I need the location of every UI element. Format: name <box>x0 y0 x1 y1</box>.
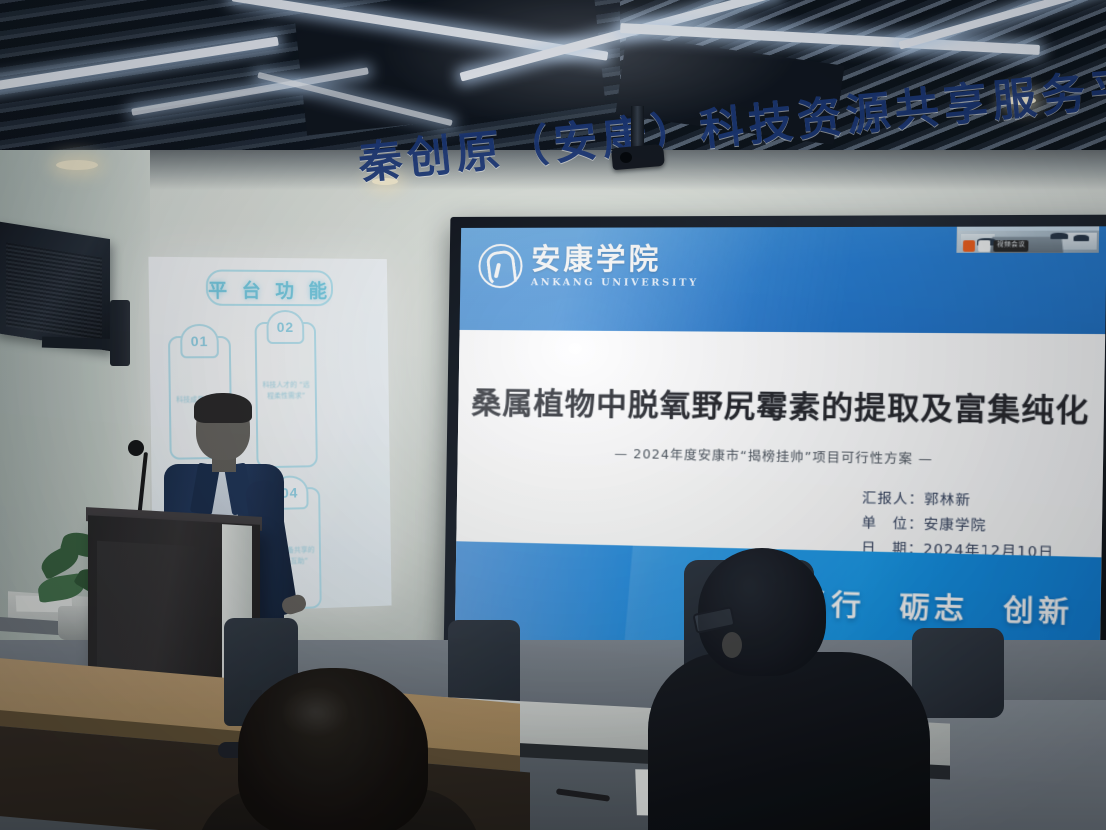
slide-header-bar: 安康学院 ANKANG UNIVERSITY <box>460 226 1106 334</box>
camera-lens-icon <box>620 152 632 163</box>
speaker-mount <box>110 300 130 366</box>
slide-subtitle: — 2024年度安康市“揭榜挂帅”项目可行性方案 — <box>458 440 1104 470</box>
pip-person <box>1074 234 1090 240</box>
pip-person <box>1051 232 1068 239</box>
hair-highlight <box>280 686 350 738</box>
seated-person-right <box>660 548 930 830</box>
meta-label: 单 位： <box>861 511 923 537</box>
pip-badge-label: 视频会议 <box>994 241 1029 253</box>
feature-card-number: 02 <box>266 310 304 344</box>
projection-title: 平 台 功 能 <box>208 276 331 304</box>
pip-person <box>977 238 995 245</box>
pip-badge-group: 视频会议 <box>963 241 1029 253</box>
meta-value: 安康学院 <box>924 516 987 534</box>
seated-person-foreground <box>210 668 460 830</box>
person-body <box>648 652 930 830</box>
university-brand: 安康学院 ANKANG UNIVERSITY <box>479 244 700 289</box>
slide-body: 桑属植物中脱氧野尻霉素的提取及富集纯化 — 2024年度安康市“揭榜挂帅”项目可… <box>456 330 1105 558</box>
brand-name-en: ANKANG UNIVERSITY <box>531 278 699 288</box>
university-seal-icon <box>479 244 524 288</box>
brand-text: 安康学院 ANKANG UNIVERSITY <box>531 245 700 288</box>
microphone-icon <box>128 440 144 456</box>
ceiling-downlight <box>56 160 98 170</box>
pip-badge-white-icon <box>978 241 990 253</box>
pip-seat-row-left <box>960 234 994 249</box>
pip-person <box>997 240 1013 246</box>
meta-label: 汇报人： <box>862 486 924 512</box>
person-ear <box>722 632 742 658</box>
pip-badge-orange-icon <box>963 241 975 253</box>
slide-title: 桑属植物中脱氧野尻霉素的提取及富集纯化 <box>458 378 1104 431</box>
presenter-hair <box>194 393 252 423</box>
speaker-grille <box>6 242 102 341</box>
conference-room-photo: 秦创原（安康）科技资源共享服务平 平 台 功 能 01 科技成果的 “转化 ” … <box>0 0 1106 830</box>
pip-ceiling <box>958 226 1099 230</box>
pip-seat-row-right <box>1059 233 1096 250</box>
pip-floor <box>990 236 1063 252</box>
camera-feed-inset: 视频会议 <box>957 226 1100 253</box>
feature-card-number: 01 <box>180 324 219 358</box>
meta-value: 郭林新 <box>924 491 971 509</box>
brand-name-cn: 安康学院 <box>531 245 700 275</box>
